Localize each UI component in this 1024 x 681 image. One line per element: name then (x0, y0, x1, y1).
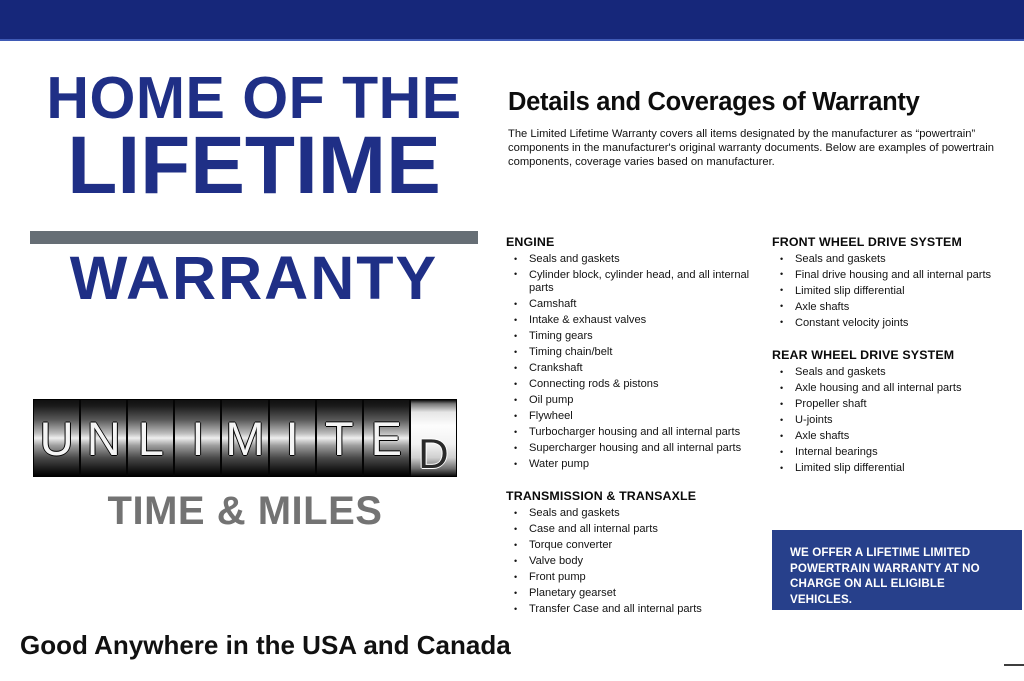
list-item: Oil pump (506, 394, 766, 407)
list-item: Axle shafts (772, 301, 1022, 314)
odometer-cell: E (364, 400, 411, 476)
odometer-cell: L (128, 400, 175, 476)
list-item: Valve body (506, 555, 766, 568)
hero-line-lifetime: LIFETIME (28, 124, 480, 208)
coverage-column-right: FRONT WHEEL DRIVE SYSTEM Seals and gaske… (772, 234, 1022, 478)
hero-line-warranty: WARRANTY (28, 246, 480, 310)
section-heading: ENGINE (506, 234, 766, 250)
list-item: Water pump (506, 458, 766, 471)
list-item: Propeller shaft (772, 398, 1022, 411)
list-item: Supercharger housing and all internal pa… (506, 442, 766, 455)
list-item: Intake & exhaust valves (506, 314, 766, 327)
intro-paragraph: The Limited Lifetime Warranty covers all… (508, 127, 1004, 170)
odometer-cell: U (34, 400, 81, 476)
list-item: Axle housing and all internal parts (772, 382, 1022, 395)
rear-wheel-drive-item-list: Seals and gasketsAxle housing and all in… (772, 366, 1022, 475)
transmission-item-list: Seals and gasketsCase and all internal p… (506, 507, 766, 616)
warranty-flyer-page: HOME OF THE LIFETIME WARRANTY U N L I M … (0, 0, 1024, 681)
section-transmission: TRANSMISSION & TRANSAXLE Seals and gaske… (506, 488, 766, 616)
list-item: Timing gears (506, 330, 766, 343)
odometer-glyph: I (286, 415, 299, 462)
list-item: Torque converter (506, 539, 766, 552)
section-rear-wheel-drive: REAR WHEEL DRIVE SYSTEM Seals and gasket… (772, 347, 1022, 475)
odometer-glyph: E (371, 415, 402, 462)
list-item: Axle shafts (772, 430, 1022, 443)
odometer-glyph: U (40, 415, 74, 462)
list-item: Internal bearings (772, 446, 1022, 459)
list-item: Front pump (506, 571, 766, 584)
top-navy-banner (0, 0, 1024, 41)
coverage-column-left: ENGINE Seals and gasketsCylinder block, … (506, 234, 766, 619)
section-heading: TRANSMISSION & TRANSAXLE (506, 488, 766, 504)
odometer-cell-rolling: D (411, 400, 456, 476)
lifetime-warranty-callout-box: WE OFFER A LIFETIME LIMITED POWERTRAIN W… (772, 530, 1022, 610)
footer-divider-rule (1004, 664, 1024, 666)
list-item: U-joints (772, 414, 1022, 427)
odometer-graphic: U N L I M I T E D (33, 399, 457, 477)
list-item: Turbocharger housing and all internal pa… (506, 426, 766, 439)
hero-line-home-of-the: HOME OF THE (28, 68, 480, 128)
left-branding-panel: HOME OF THE LIFETIME WARRANTY U N L I M … (0, 41, 496, 681)
right-details-panel: Details and Coverages of Warranty The Li… (496, 41, 1024, 681)
hero-divider-rule (30, 231, 478, 244)
list-item: Seals and gaskets (506, 253, 766, 266)
engine-item-list: Seals and gasketsCylinder block, cylinde… (506, 253, 766, 471)
front-wheel-drive-item-list: Seals and gasketsFinal drive housing and… (772, 253, 1022, 330)
list-item: Seals and gaskets (506, 507, 766, 520)
odometer-cell: I (270, 400, 317, 476)
list-item: Seals and gaskets (772, 366, 1022, 379)
list-item: Connecting rods & pistons (506, 378, 766, 391)
section-engine: ENGINE Seals and gasketsCylinder block, … (506, 234, 766, 471)
odometer-glyph: T (325, 415, 354, 462)
odometer-cell: N (81, 400, 128, 476)
list-item: Constant velocity joints (772, 317, 1022, 330)
list-item: Seals and gaskets (772, 253, 1022, 266)
section-heading: FRONT WHEEL DRIVE SYSTEM (772, 234, 1022, 250)
list-item: Cylinder block, cylinder head, and all i… (506, 269, 766, 296)
list-item: Planetary gearset (506, 587, 766, 600)
list-item: Timing chain/belt (506, 346, 766, 359)
odometer-glyph: M (225, 415, 264, 462)
list-item: Crankshaft (506, 362, 766, 375)
odometer-glyph: L (138, 415, 164, 462)
list-item: Camshaft (506, 298, 766, 311)
odometer-glyph: N (87, 415, 121, 462)
section-front-wheel-drive: FRONT WHEEL DRIVE SYSTEM Seals and gaske… (772, 234, 1022, 330)
callout-text: WE OFFER A LIFETIME LIMITED POWERTRAIN W… (790, 545, 1006, 607)
odometer-cell: T (317, 400, 364, 476)
list-item: Limited slip differential (772, 462, 1022, 475)
list-item: Final drive housing and all internal par… (772, 269, 1022, 282)
list-item: Case and all internal parts (506, 523, 766, 536)
page-title: Details and Coverages of Warranty (508, 87, 1013, 117)
section-heading: REAR WHEEL DRIVE SYSTEM (772, 347, 1022, 363)
odometer-cell: I (175, 400, 222, 476)
coverage-region-text: Good Anywhere in the USA and Canada (20, 630, 490, 660)
odometer-subtitle: TIME & MILES (33, 489, 457, 533)
list-item: Limited slip differential (772, 285, 1022, 298)
odometer-glyph: D (418, 430, 448, 477)
odometer-cell: M (222, 400, 269, 476)
list-item: Flywheel (506, 410, 766, 423)
odometer-glyph: I (191, 415, 204, 462)
list-item: Transfer Case and all internal parts (506, 603, 766, 616)
footer-tagline: GOOD FOR AN UNLIMITED TIME AND UNLIMITED… (1004, 672, 1024, 681)
